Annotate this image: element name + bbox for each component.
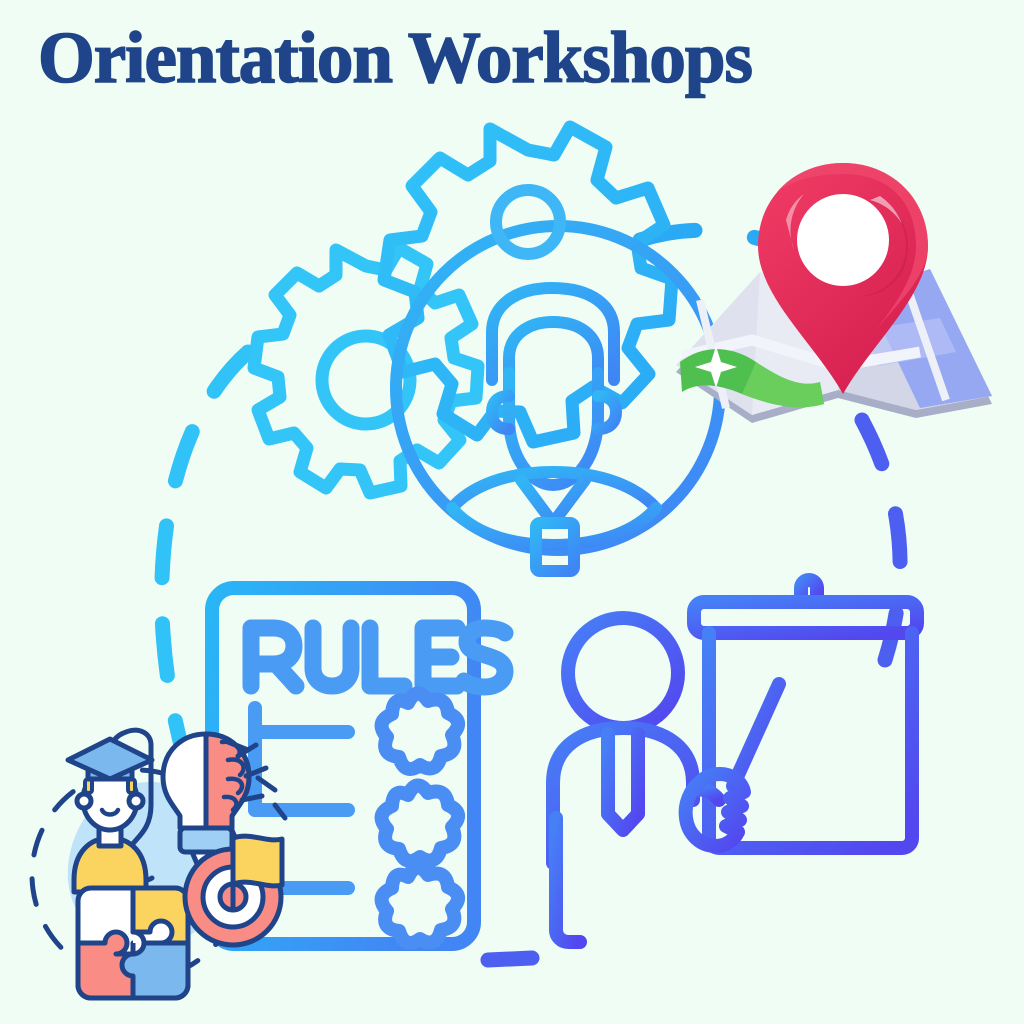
- star-icon: [382, 867, 459, 943]
- star-icon: [382, 693, 459, 769]
- learning-cluster: [32, 730, 282, 998]
- star-icon: [382, 785, 459, 861]
- map-location-pin-icon: [676, 163, 992, 423]
- dashed-arc-right: [862, 420, 900, 660]
- dashed-arc-left: [162, 352, 248, 760]
- presenter-board-icon: [553, 580, 917, 942]
- puzzle-icon: [78, 888, 188, 998]
- star-rating: [382, 693, 459, 943]
- poster-canvas: Orientation Workshops: [0, 0, 1024, 1024]
- orientation-workshops-illustration: [0, 0, 1024, 1024]
- rules-text: [251, 628, 505, 687]
- dash-bottom-center: [488, 958, 532, 960]
